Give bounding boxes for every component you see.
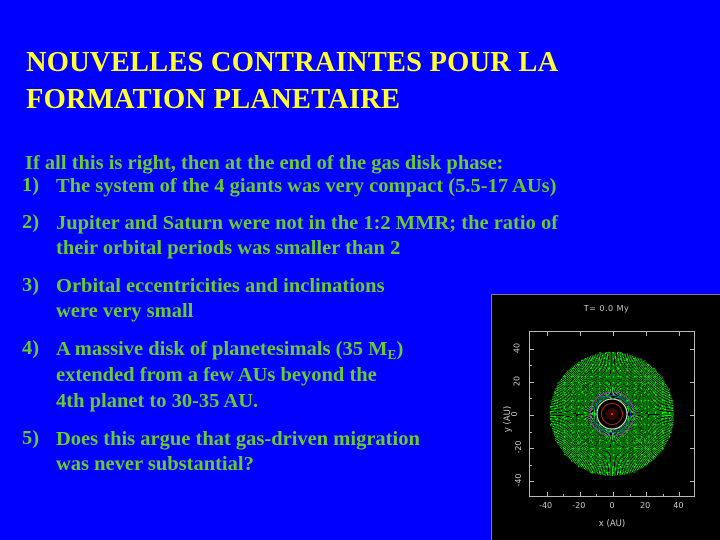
y-axis-title: y (AU): [503, 389, 513, 449]
x-tick-top: [646, 332, 647, 336]
slide: Nouvelles contraintes pour la formation …: [0, 0, 720, 540]
y-tick-major: [530, 415, 534, 416]
lead-in-text: If all this is right, then at the end of…: [25, 151, 675, 176]
x-tick-label: 40: [673, 501, 683, 510]
y-tick-minor: [530, 432, 532, 433]
bullet-text: A massive disk of planetesimals (35 ME) …: [56, 337, 511, 414]
sun-marker: [611, 413, 613, 415]
x-axis-title: x (AU): [529, 519, 695, 529]
x-tick-label: -20: [572, 501, 585, 510]
x-tick-label: 0: [609, 501, 614, 510]
y-tick-minor: [530, 365, 532, 366]
slide-title: Nouvelles contraintes pour la formation …: [26, 45, 686, 118]
x-tick-label: -40: [539, 501, 552, 510]
y-tick-right: [690, 448, 694, 449]
x-tick-major: [580, 492, 581, 496]
bullet-text: The system of the 4 giants was very comp…: [56, 174, 692, 199]
y-tick-right: [690, 481, 694, 482]
x-tick-top: [580, 332, 581, 336]
y-tick-label: 20: [513, 376, 522, 386]
x-tick-top: [613, 332, 614, 336]
y-tick-major: [530, 349, 534, 350]
x-tick-label: 20: [640, 501, 650, 510]
x-tick-top: [547, 332, 548, 336]
simulation-plot-image: T= 0.0 My: [491, 294, 720, 540]
x-tick-minor: [563, 494, 564, 496]
bullet-number: 4): [20, 337, 56, 360]
y-tick-major: [530, 448, 534, 449]
plot-title: T= 0.0 My: [492, 304, 720, 313]
plot-axes-frame: [529, 331, 695, 497]
x-tick-top: [679, 332, 680, 336]
y-tick-right: [690, 349, 694, 350]
y-tick-major: [530, 481, 534, 482]
bullet-number: 1): [20, 174, 56, 197]
x-tick-minor: [630, 494, 631, 496]
bullet-text: Orbital eccentricities and inclinations …: [56, 274, 511, 324]
bullet-number: 3): [20, 274, 56, 297]
bullet-text: Jupiter and Saturn were not in the 1:2 M…: [56, 211, 692, 261]
bullet-text-part: A massive disk of planetesimals (35 M: [56, 338, 387, 360]
bullet-number: 5): [20, 427, 56, 450]
x-tick-major: [679, 492, 680, 496]
bullet-text: Does this argue that gas-driven migratio…: [56, 427, 511, 477]
y-tick-label: -40: [514, 474, 523, 487]
x-tick-minor: [596, 494, 597, 496]
y-tick-major: [530, 382, 534, 383]
y-tick-label: 40: [513, 343, 522, 353]
x-tick-major: [613, 492, 614, 496]
x-tick-major: [547, 492, 548, 496]
x-tick-minor: [663, 494, 664, 496]
list-item: 1) The system of the 4 giants was very c…: [20, 174, 692, 199]
y-tick-label: -20: [514, 441, 523, 454]
y-tick-minor: [530, 465, 532, 466]
y-tick-right: [690, 382, 694, 383]
list-item: 2) Jupiter and Saturn were not in the 1:…: [20, 211, 692, 261]
y-tick-right: [690, 415, 694, 416]
y-tick-minor: [530, 398, 532, 399]
bullet-number: 2): [20, 211, 56, 234]
x-tick-major: [646, 492, 647, 496]
